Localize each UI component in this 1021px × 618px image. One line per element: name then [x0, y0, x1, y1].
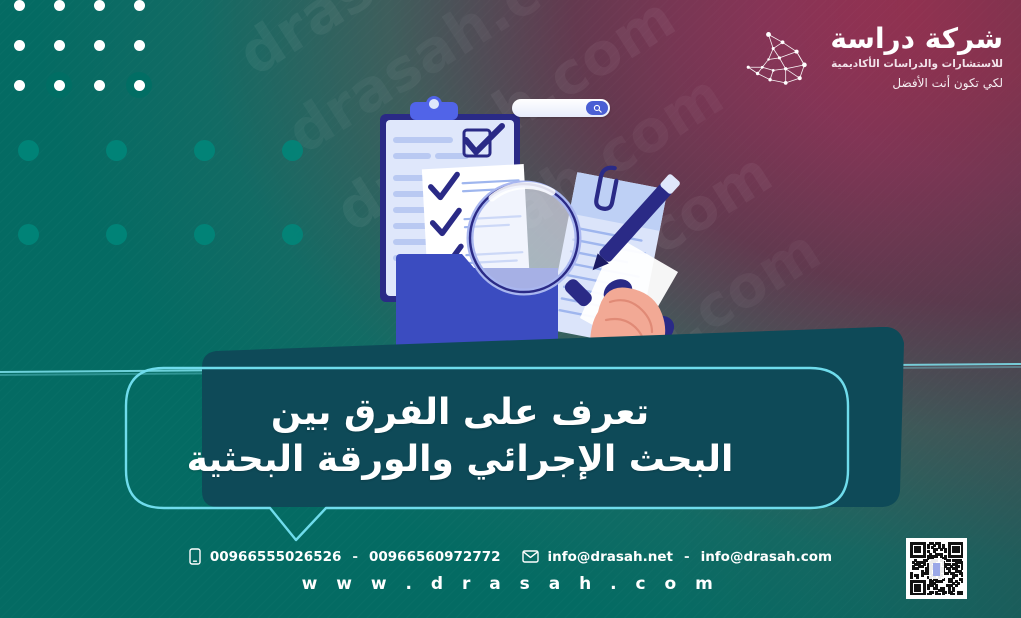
phone-number-2[interactable]: 00966560972772: [369, 549, 501, 565]
email-address-1[interactable]: info@drasah.net: [548, 549, 673, 565]
dot-grid-pattern: [14, 0, 214, 98]
network-polygon-logo-icon: [742, 22, 820, 100]
search-input[interactable]: [512, 99, 610, 117]
banner-canvas: drasah.com drasah.com drasah.com drasah.…: [0, 0, 1021, 618]
page-title-line-1: تعرف على الفرق بين: [271, 392, 649, 433]
contact-bar: 00966555026526 - 00966560972772 info@dra…: [0, 548, 1021, 569]
soft-dot-pattern: [18, 140, 348, 330]
brand-name: شركة دراسة: [830, 24, 1003, 53]
envelope-icon: [522, 550, 539, 563]
brand-slogan: لكي تكون أنت الأفضل: [830, 76, 1003, 90]
brand-subtitle: للاستشارات والدراسات الأكاديمية: [830, 58, 1003, 70]
magnifier-icon[interactable]: [586, 101, 608, 115]
phone-separator: -: [350, 549, 360, 565]
email-separator: -: [682, 549, 692, 565]
page-title: تعرف على الفرق بين البحث الإجرائي والورق…: [180, 390, 740, 484]
qr-code[interactable]: [906, 538, 967, 599]
email-address-2[interactable]: info@drasah.com: [701, 549, 833, 565]
brand-logo-text: شركة دراسة للاستشارات والدراسات الأكاديم…: [830, 22, 1003, 90]
page-title-line-2: البحث الإجرائي والورقة البحثية: [180, 437, 740, 484]
brand-logo: شركة دراسة للاستشارات والدراسات الأكاديم…: [742, 22, 1003, 100]
website-url[interactable]: w w w . d r a s a h . c o m: [0, 574, 1021, 594]
phone-number-1[interactable]: 00966555026526: [210, 549, 342, 565]
mobile-phone-icon: [189, 548, 201, 565]
